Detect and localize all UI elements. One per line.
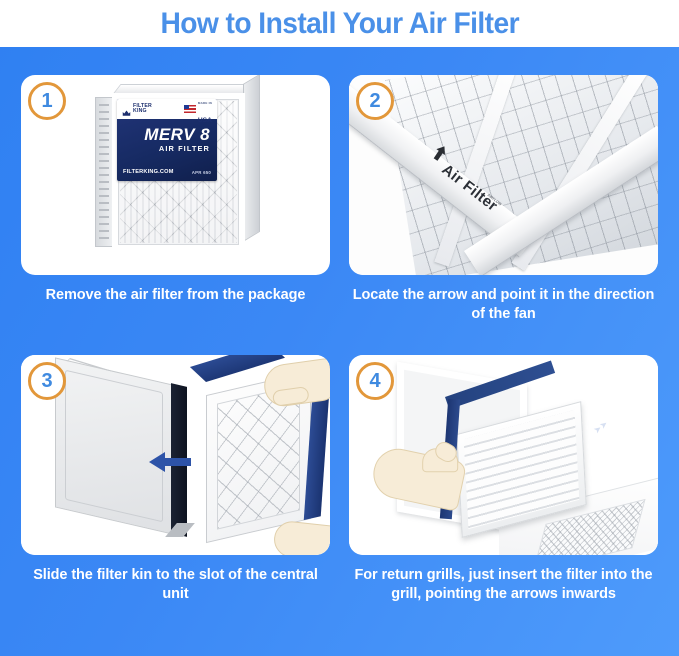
central-unit-face	[55, 357, 173, 534]
new-filter-mesh	[217, 384, 300, 529]
step-caption-3: Slide the filter kin to the slot of the …	[21, 566, 330, 604]
hand-lower	[272, 520, 330, 555]
brand-name: FILTER KING	[133, 104, 152, 115]
insertion-arrow-icon	[149, 451, 191, 473]
made-in-text: MADE IN	[198, 101, 212, 105]
step-3-illustration: ➤➤	[21, 355, 330, 555]
apr-rating: APR 650	[192, 170, 211, 175]
made-in-usa-lockup: MADE IN USA	[184, 99, 212, 127]
usa-flag-icon	[184, 105, 196, 113]
title-bar: How to Install Your Air Filter	[0, 0, 679, 47]
country-text: USA	[198, 117, 212, 124]
brand-website: FILTERKING.COM	[123, 169, 174, 175]
step-1-illustration: FILTER KING MADE IN USA	[21, 75, 330, 275]
step-caption-1: Remove the air filter from the package	[21, 286, 330, 305]
step-number-badge-1: 1	[28, 82, 66, 120]
filter-left-edge	[95, 97, 113, 247]
step-panel-2: 2 Air Filter AIRFLOW Locate th	[349, 75, 658, 324]
step-number-badge-2: 2	[356, 82, 394, 120]
brand-lockup: FILTER KING	[122, 104, 152, 115]
steps-grid: 1	[0, 47, 679, 656]
label-footer: FILTERKING.COM APR 650	[123, 169, 211, 175]
step-2-illustration: Air Filter AIRFLOW	[349, 75, 658, 275]
filter-right-edge	[243, 75, 260, 242]
filter-arrow-marks-icon: ➤➤	[592, 418, 611, 436]
step-4-illustration: ➤➤	[349, 355, 658, 555]
step-number-badge-4: 4	[356, 362, 394, 400]
step-panel-4: 4 ➤➤ For return grills, just insert the …	[349, 355, 658, 604]
made-in-usa-text: MADE IN USA	[198, 99, 212, 127]
step-caption-4: For return grills, just insert the filte…	[349, 566, 658, 604]
crown-icon	[122, 105, 131, 114]
step-card-4: 4 ➤➤	[349, 355, 658, 555]
step-caption-2: Locate the arrow and point it in the dir…	[349, 286, 658, 324]
label-header: FILTER KING MADE IN USA	[117, 99, 217, 119]
brand-line-2: KING	[133, 108, 147, 114]
hand-upper	[261, 357, 330, 409]
step-number-badge-3: 3	[28, 362, 66, 400]
step-card-1: 1	[21, 75, 330, 275]
page-title: How to Install Your Air Filter	[160, 7, 519, 41]
filter-brand-label: FILTER KING MADE IN USA	[117, 99, 217, 181]
infographic-root: How to Install Your Air Filter 1	[0, 0, 679, 656]
product-type: AIR FILTER	[117, 144, 210, 153]
merv-grade: MERV 8	[117, 125, 210, 145]
step-card-2: 2 Air Filter AIRFLOW	[349, 75, 658, 275]
step-card-3: 3 ➤➤	[21, 355, 330, 555]
step-panel-3: 3 ➤➤	[21, 355, 330, 604]
step-panel-1: 1	[21, 75, 330, 305]
air-filter-product-image: FILTER KING MADE IN USA	[95, 93, 263, 257]
